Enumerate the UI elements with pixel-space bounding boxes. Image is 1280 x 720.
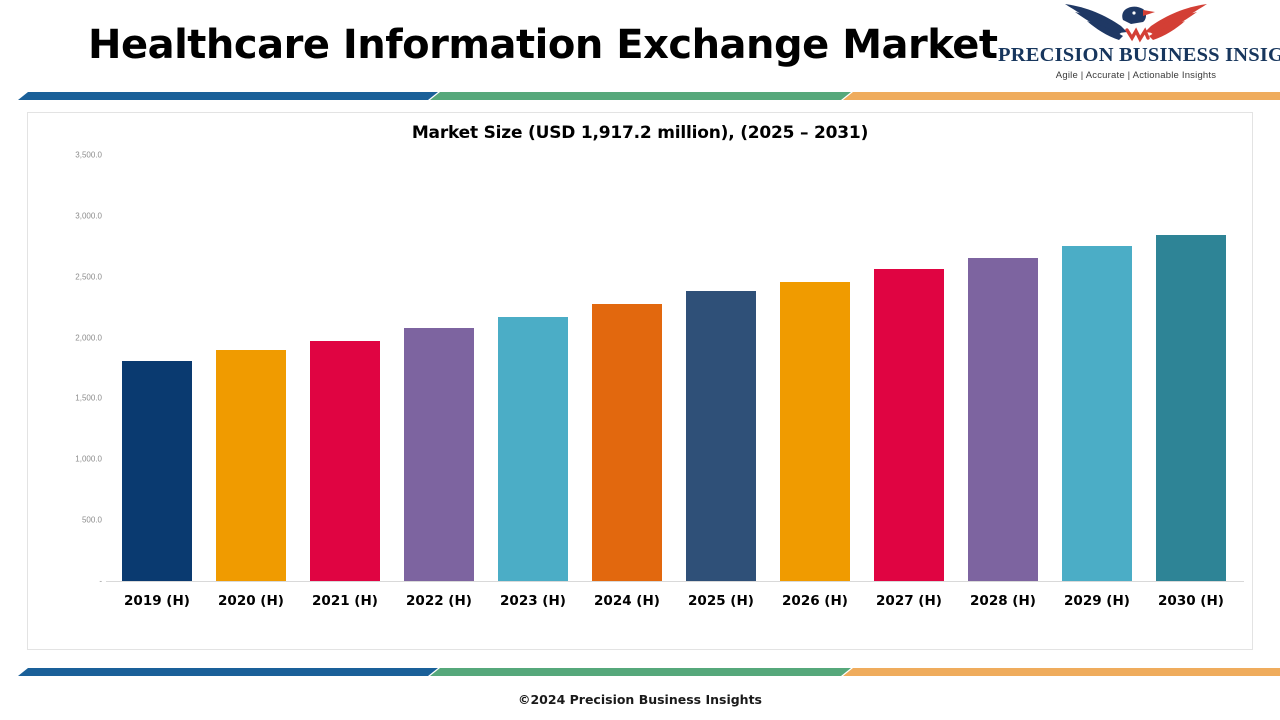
- bar-2020[interactable]: [216, 350, 286, 581]
- y-tick-label: 3,000.0: [75, 211, 102, 220]
- page-title: Healthcare Information Exchange Market: [88, 22, 998, 68]
- x-tick-label: 2021 (H): [298, 587, 392, 617]
- x-tick-label: 2027 (H): [862, 587, 956, 617]
- x-tick-label: 2026 (H): [768, 587, 862, 617]
- bar-2028[interactable]: [968, 258, 1038, 581]
- x-tick-label: 2029 (H): [1050, 587, 1144, 617]
- y-tick-label: 500.0: [82, 516, 102, 525]
- bar-2030[interactable]: [1156, 235, 1226, 581]
- x-tick-label: 2022 (H): [392, 587, 486, 617]
- page-header: Healthcare Information Exchange Market P…: [0, 0, 1280, 88]
- logo-company-name: PRECISION BUSINESS INSIGHTS: [998, 44, 1274, 67]
- x-tick-label: 2023 (H): [486, 587, 580, 617]
- bar-2027[interactable]: [874, 269, 944, 581]
- x-tick-label: 2028 (H): [956, 587, 1050, 617]
- y-tick-label: 2,000.0: [75, 333, 102, 342]
- bar-column[interactable]: [1144, 155, 1238, 581]
- bar-column[interactable]: [674, 155, 768, 581]
- top-divider-rule: [0, 88, 1280, 100]
- y-tick-label: 3,500.0: [75, 151, 102, 160]
- y-tick-label: 1,000.0: [75, 455, 102, 464]
- bar-column[interactable]: [486, 155, 580, 581]
- bar-2025[interactable]: [686, 291, 756, 581]
- plot-area: 3,500.03,000.02,500.02,000.01,500.01,000…: [62, 155, 1248, 627]
- x-tick-label: 2030 (H): [1144, 587, 1238, 617]
- bar-column[interactable]: [862, 155, 956, 581]
- logo-tagline: Agile | Accurate | Actionable Insights: [998, 70, 1274, 81]
- x-tick-label: 2020 (H): [204, 587, 298, 617]
- bar-column[interactable]: [110, 155, 204, 581]
- bar-2019[interactable]: [122, 361, 192, 581]
- rule-segment-green: [430, 668, 851, 676]
- bar-2029[interactable]: [1062, 246, 1132, 581]
- x-tick-label: 2019 (H): [110, 587, 204, 617]
- bar-2026[interactable]: [780, 282, 850, 581]
- bar-column[interactable]: [204, 155, 298, 581]
- bar-column[interactable]: [1050, 155, 1144, 581]
- bar-series: [110, 155, 1238, 581]
- bar-2024[interactable]: [592, 304, 662, 581]
- rule-segment-orange: [843, 92, 1280, 100]
- rule-segment-green: [430, 92, 851, 100]
- x-axis-line: [106, 581, 1244, 582]
- x-axis: 2019 (H)2020 (H)2021 (H)2022 (H)2023 (H)…: [110, 587, 1238, 617]
- brand-logo: PRECISION BUSINESS INSIGHTS Agile | Accu…: [998, 2, 1274, 88]
- chart-title: Market Size (USD 1,917.2 million), (2025…: [28, 123, 1252, 143]
- bar-column[interactable]: [956, 155, 1050, 581]
- bar-column[interactable]: [768, 155, 862, 581]
- y-axis: 3,500.03,000.02,500.02,000.01,500.01,000…: [62, 155, 106, 627]
- bar-column[interactable]: [392, 155, 486, 581]
- bottom-divider-rule: [0, 664, 1280, 676]
- bar-2021[interactable]: [310, 341, 380, 581]
- y-tick-label: 1,500.0: [75, 394, 102, 403]
- rule-segment-orange: [843, 668, 1280, 676]
- bar-column[interactable]: [580, 155, 674, 581]
- x-tick-label: 2024 (H): [580, 587, 674, 617]
- footer-copyright: ©2024 Precision Business Insights: [0, 692, 1280, 707]
- y-tick-label: -: [99, 577, 102, 586]
- eagle-logo-icon: [1061, 2, 1211, 46]
- chart-panel: Market Size (USD 1,917.2 million), (2025…: [27, 112, 1253, 650]
- x-tick-label: 2025 (H): [674, 587, 768, 617]
- bar-2022[interactable]: [404, 328, 474, 581]
- y-tick-label: 2,500.0: [75, 272, 102, 281]
- bar-column[interactable]: [298, 155, 392, 581]
- bar-2023[interactable]: [498, 317, 568, 581]
- rule-segment-blue: [18, 92, 438, 100]
- rule-segment-blue: [18, 668, 438, 676]
